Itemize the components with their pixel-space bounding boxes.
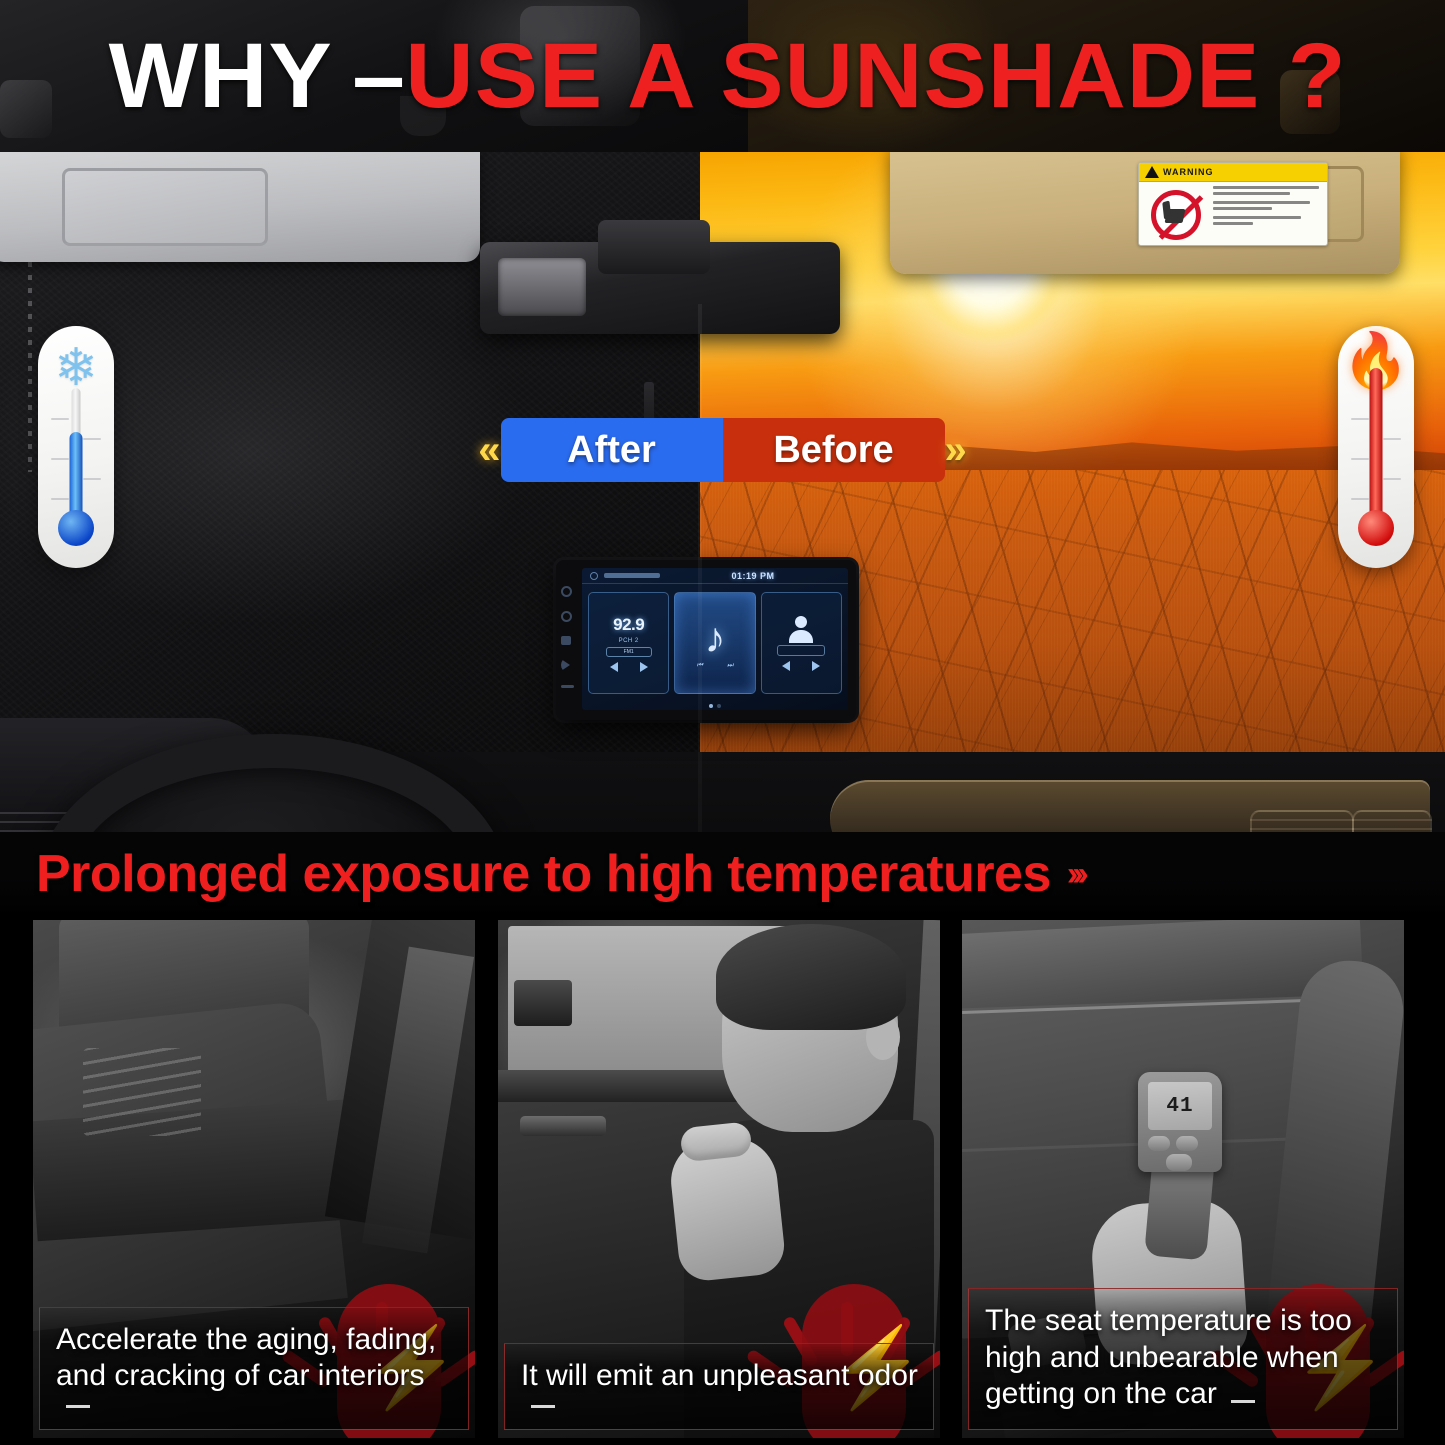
consequence-panels: ⚡ Accelerate the aging, fading, and crac… <box>0 916 1445 1445</box>
radio-band[interactable]: FM1 <box>606 647 652 657</box>
title-phrase-sunshade: USE A SUNSHADE ? <box>406 30 1347 122</box>
warning-symbol-area <box>1139 182 1213 246</box>
before-badge: Before <box>723 418 945 482</box>
panel-unpleasant-odor: ⚡ It will emit an unpleasant odor <box>498 920 940 1438</box>
profile-prev-icon[interactable] <box>782 661 790 671</box>
panel-caption-text: Accelerate the aging, fading, and cracki… <box>56 1323 436 1393</box>
thermometer-reading: 41 <box>1166 1095 1193 1118</box>
radio-seek-arrows[interactable] <box>610 662 648 672</box>
sun-visor-left <box>0 152 480 262</box>
mid-banner-text: Prolonged exposure to high temperatures <box>0 844 1051 904</box>
warning-triangle-icon <box>1145 166 1159 178</box>
thermometer-button-left <box>1148 1136 1170 1151</box>
dashboard-air-vent <box>83 1048 201 1136</box>
panel-hot-seat: 41 ⚡ The seat tempera <box>962 920 1404 1438</box>
profile-tile[interactable] <box>761 592 842 694</box>
profile-control-bar[interactable] <box>777 645 825 656</box>
snowflake-icon: ❄ <box>54 342 98 394</box>
no-child-seat-icon <box>1151 190 1201 240</box>
thermometer-grip <box>1144 1163 1214 1260</box>
child-seat-glyph <box>1165 209 1186 223</box>
mid-banner: Prolonged exposure to high temperatures … <box>0 832 1445 916</box>
air-vent-right-b <box>1352 810 1432 832</box>
profile-next-icon[interactable] <box>812 661 820 671</box>
screen-brand-mark <box>604 573 660 578</box>
comparison-split-seam <box>698 304 702 832</box>
screen-clock: 01:19 PM <box>731 571 774 581</box>
cold-thermometer: ❄ <box>38 326 114 568</box>
panel-caption: It will emit an unpleasant odor <box>504 1343 934 1430</box>
chevron-right-icon: » <box>945 430 967 470</box>
dashboard <box>0 752 1445 832</box>
airbag-warning-label: WARNING <box>1138 162 1328 246</box>
screen-tiles: 92.9 PCH 2 FM1 ♪ ⏮ ⏭ <box>582 584 848 702</box>
visor-mirror-slot-left <box>82 178 102 230</box>
play-icon[interactable] <box>561 659 570 671</box>
hot-thermometer: 🔥 <box>1338 326 1414 568</box>
next-track-icon[interactable]: ⏭ <box>727 662 733 670</box>
cold-thermometer-bulb <box>58 510 94 546</box>
volume-knob-icon[interactable] <box>561 611 572 622</box>
profile-arrows[interactable] <box>782 661 820 671</box>
side-mirror <box>514 980 572 1026</box>
speaker-icon[interactable] <box>561 636 571 645</box>
page-title: WHY – USE A SUNSHADE ? <box>0 0 1445 152</box>
media-tile[interactable]: ♪ ⏮ ⏭ <box>674 592 755 694</box>
seek-up-icon[interactable] <box>640 662 648 672</box>
music-note-icon: ♪ <box>704 617 725 659</box>
hot-thermometer-fill <box>1370 368 1383 524</box>
rear-view-mirror <box>480 242 840 334</box>
header-banner: WHY – USE A SUNSHADE ? <box>0 0 1445 152</box>
screen-page-dots[interactable] <box>582 702 848 710</box>
media-transport-controls[interactable]: ⏮ ⏭ <box>697 662 734 670</box>
radio-frequency: 92.9 <box>613 615 644 635</box>
thermometer-button-center <box>1166 1154 1192 1171</box>
warning-label-header: WARNING <box>1139 163 1327 182</box>
hero-comparison: WARNING <box>0 152 1445 832</box>
panel-interior-aging: ⚡ Accelerate the aging, fading, and crac… <box>33 920 475 1438</box>
after-badge: After <box>501 418 723 482</box>
panel-caption: Accelerate the aging, fading, and cracki… <box>39 1307 469 1430</box>
radio-tile[interactable]: 92.9 PCH 2 FM1 <box>588 592 669 694</box>
page-dot-inactive[interactable] <box>717 704 721 708</box>
thermometer-button-right <box>1176 1136 1198 1151</box>
hot-thermometer-bulb <box>1358 510 1394 546</box>
air-vent-right-a <box>1250 810 1354 832</box>
before-after-badges: « After Before » <box>0 414 1445 486</box>
thermometer-lcd: 41 <box>1148 1082 1212 1130</box>
mid-banner-chevrons-icon: ››› <box>1067 855 1083 894</box>
panel-caption: The seat temperature is too high and unb… <box>968 1288 1398 1430</box>
thermometer-buttons <box>1148 1136 1198 1151</box>
infotainment-screen[interactable]: 01:19 PM 92.9 PCH 2 FM1 ♪ <box>582 568 848 710</box>
sun-visor-right: WARNING <box>890 152 1400 274</box>
panel-caption-text: It will emit an unpleasant odor <box>521 1359 918 1392</box>
warning-label-text-lines <box>1213 182 1327 246</box>
title-word-why: WHY <box>108 30 342 122</box>
warning-label-body <box>1139 182 1327 246</box>
caption-cursor <box>66 1405 90 1408</box>
infotainment-head-unit[interactable]: 01:19 PM 92.9 PCH 2 FM1 ♪ <box>556 560 856 720</box>
chevron-left-icon: « <box>478 430 500 470</box>
chevron-right-group: » <box>945 430 967 470</box>
seek-down-icon[interactable] <box>610 662 618 672</box>
person-icon <box>788 616 814 642</box>
product-infographic: WHY – USE A SUNSHADE ? <box>0 0 1445 1445</box>
person-hair <box>716 924 906 1030</box>
head-unit-side-buttons[interactable] <box>561 586 574 688</box>
power-button-icon[interactable] <box>561 586 572 597</box>
menu-icon[interactable] <box>561 685 574 688</box>
panel-caption-text: The seat temperature is too high and unb… <box>985 1304 1352 1410</box>
infrared-thermometer: 41 <box>1138 1072 1222 1172</box>
chevron-left-group: « <box>478 430 500 470</box>
screen-status-bar: 01:19 PM <box>582 568 848 584</box>
bluetooth-icon <box>590 572 598 580</box>
radio-preset: PCH 2 <box>619 638 639 644</box>
caption-cursor <box>531 1405 555 1408</box>
door-handle <box>520 1116 606 1136</box>
warning-label-word: WARNING <box>1163 167 1214 177</box>
caption-cursor <box>1231 1400 1255 1403</box>
page-dot-active[interactable] <box>709 704 713 708</box>
